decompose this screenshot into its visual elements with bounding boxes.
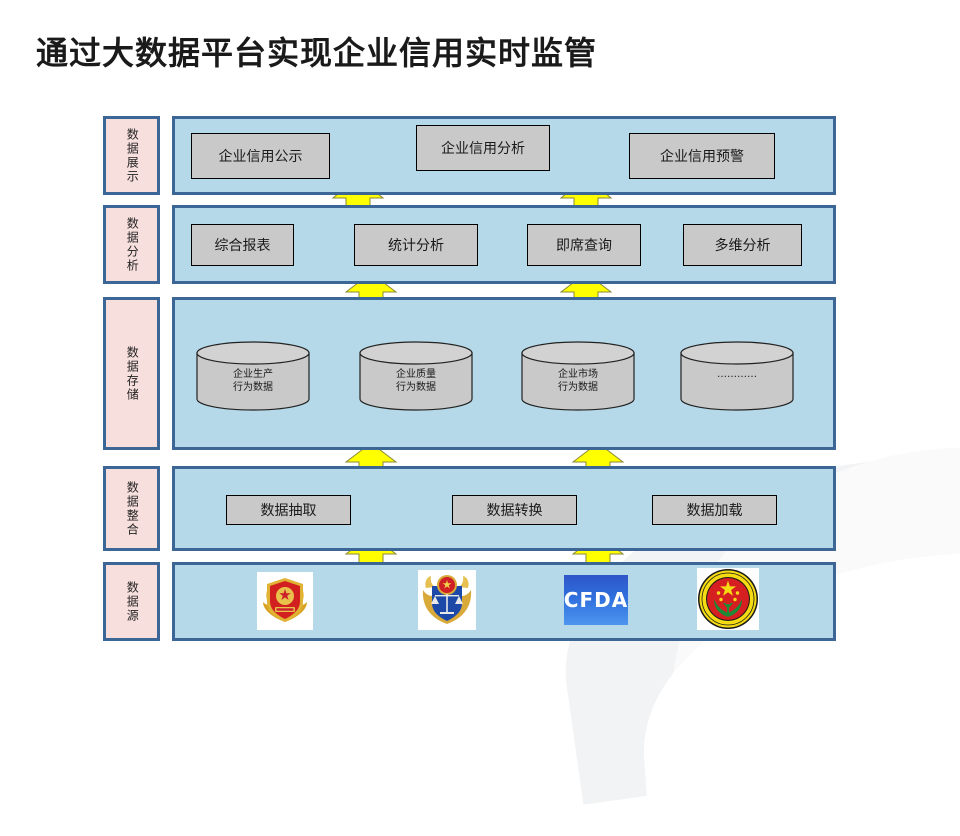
stage-label-text: 数据整合 (123, 481, 140, 537)
stage-label-text: 数据存储 (123, 346, 140, 402)
page-title: 通过大数据平台实现企业信用实时监管 (36, 28, 597, 74)
cylinder-label: 企业生产 行为数据 (196, 368, 310, 395)
integration-box-extract[interactable]: 数据抽取 (226, 495, 351, 525)
box-label: 数据加载 (687, 500, 743, 520)
storage-cylinder-market-behavior[interactable]: 企业市场 行为数据 (521, 341, 635, 411)
stage-label-data-integration: 数据整合 (103, 466, 160, 551)
storage-cylinder-more[interactable]: ………… (680, 341, 794, 411)
display-box-credit-analysis[interactable]: 企业信用分析 (416, 125, 550, 171)
display-box-credit-warning[interactable]: 企业信用预警 (629, 133, 775, 179)
box-label: 数据抽取 (261, 500, 317, 520)
box-label: 企业信用预警 (660, 146, 744, 166)
box-label: 即席查询 (556, 235, 612, 255)
analysis-box-multidim-analysis[interactable]: 多维分析 (683, 224, 802, 266)
cylinder-label: 企业市场 行为数据 (521, 368, 635, 395)
source-logo-aic[interactable] (257, 572, 313, 630)
stage-label-data-analysis: 数据分析 (103, 205, 160, 284)
stage-label-text: 数据展示 (123, 128, 140, 184)
cylinder-label: ………… (680, 368, 794, 382)
stage-label-text: 数据源 (123, 581, 140, 623)
storage-cylinder-quality-behavior[interactable]: 企业质量 行为数据 (359, 341, 473, 411)
analysis-box-statistical-analysis[interactable]: 统计分析 (354, 224, 478, 266)
cfda-logo-icon: CFDA (564, 588, 628, 612)
box-label: 多维分析 (715, 235, 771, 255)
aqsiq-emblem-icon (418, 570, 476, 630)
stage-label-data-display: 数据展示 (103, 116, 160, 195)
box-label: 统计分析 (388, 235, 444, 255)
source-logo-aqsiq[interactable] (418, 570, 476, 630)
integration-box-load[interactable]: 数据加载 (652, 495, 777, 525)
source-logo-saws[interactable] (697, 568, 759, 630)
storage-cylinder-production-behavior[interactable]: 企业生产 行为数据 (196, 341, 310, 411)
slide-canvas: 通过大数据平台实现企业信用实时监管 数据展示 数据分析 数据存储 数据整合 数据… (0, 0, 960, 720)
stage-label-data-source: 数据源 (103, 562, 160, 641)
aic-emblem-icon (257, 572, 313, 630)
analysis-box-comprehensive-report[interactable]: 综合报表 (191, 224, 294, 266)
stage-label-data-storage: 数据存储 (103, 297, 160, 450)
stage-label-text: 数据分析 (123, 217, 140, 273)
display-box-credit-publicity[interactable]: 企业信用公示 (191, 133, 330, 179)
box-label: 综合报表 (215, 235, 271, 255)
saws-emblem-icon (697, 568, 759, 630)
cylinder-label: 企业质量 行为数据 (359, 368, 473, 395)
integration-box-transform[interactable]: 数据转换 (452, 495, 577, 525)
analysis-box-adhoc-query[interactable]: 即席查询 (527, 224, 641, 266)
box-label: 数据转换 (487, 500, 543, 520)
box-label: 企业信用分析 (441, 138, 525, 158)
source-logo-cfda[interactable]: CFDA (564, 575, 628, 625)
box-label: 企业信用公示 (219, 146, 303, 166)
